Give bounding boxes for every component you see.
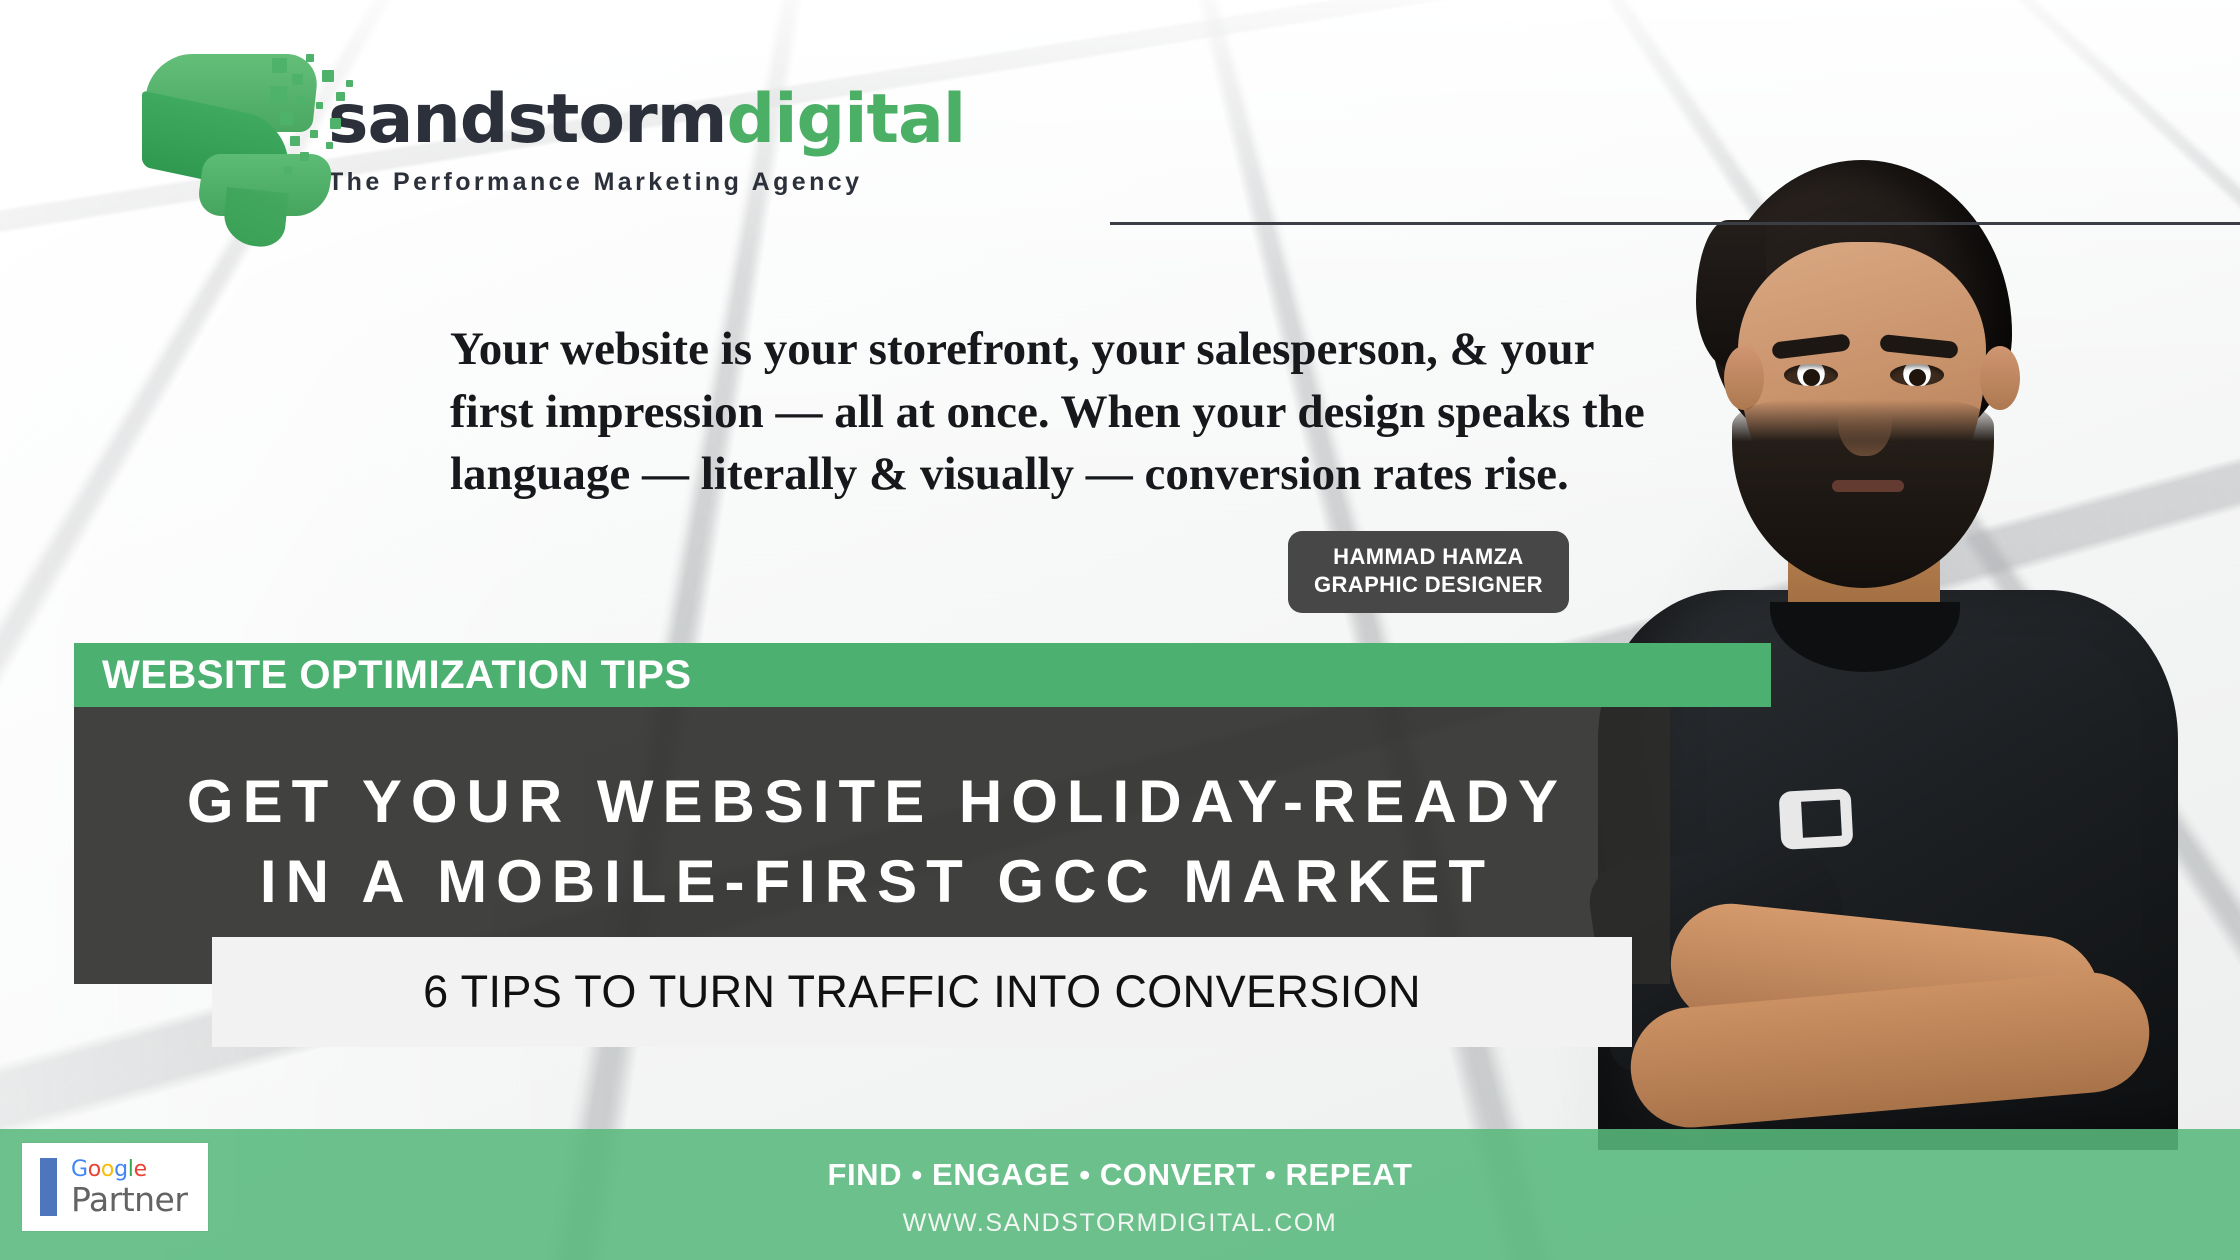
google-partner-bar-icon [40,1158,57,1216]
photo-nose [1838,382,1892,456]
headline-line-2: IN A MOBILE-FIRST GCC MARKET [74,842,1670,922]
eyebrow-label: WEBSITE OPTIMIZATION TIPS [102,653,692,698]
google-partner-badge[interactable]: Google Partner [22,1143,208,1231]
credit-role: GRAPHIC DESIGNER [1314,571,1543,599]
credit-badge: HAMMAD HAMZA GRAPHIC DESIGNER [1288,531,1569,613]
wordmark-sandstorm: sandstorm [328,80,727,159]
google-wordmark: Google [71,1159,187,1181]
photo-pupil-right [1909,369,1926,386]
headline-line-1: GET YOUR WEBSITE HOLIDAY-READY [74,762,1670,842]
footer-tagline: FIND • ENGAGE • CONVERT • REPEAT [827,1157,1412,1193]
partner-label: Partner [71,1183,187,1216]
footer-url[interactable]: WWW.SANDSTORMDIGITAL.COM [903,1209,1338,1238]
quote-text: Your website is your storefront, your sa… [450,318,1680,506]
photo-mouth [1832,480,1904,492]
sandstorm-swirl-icon [140,40,320,240]
brand-wordmark: sandstormdigital The Performance Marketi… [328,40,965,197]
photo-pupil-left [1803,369,1820,386]
photo-shirt-logo [1779,788,1854,850]
brand-tagline: The Performance Marketing Agency [328,168,965,197]
credit-name: HAMMAD HAMZA [1314,543,1543,571]
header-divider-rule [1110,222,2240,225]
footer-bar: FIND • ENGAGE • CONVERT • REPEAT WWW.SAN… [0,1129,2240,1260]
poster-canvas: sandstormdigital The Performance Marketi… [0,0,2240,1260]
photo-ear-right [1980,346,2020,410]
wordmark-digital: digital [727,80,966,159]
subtitle-bar: 6 TIPS TO TURN TRAFFIC INTO CONVERSION [212,937,1632,1047]
photo-ear-left [1724,346,1764,410]
brand-logo[interactable]: sandstormdigital The Performance Marketi… [140,40,965,240]
eyebrow-banner: WEBSITE OPTIMIZATION TIPS [74,643,1771,707]
subtitle-text: 6 TIPS TO TURN TRAFFIC INTO CONVERSION [423,966,1421,1018]
